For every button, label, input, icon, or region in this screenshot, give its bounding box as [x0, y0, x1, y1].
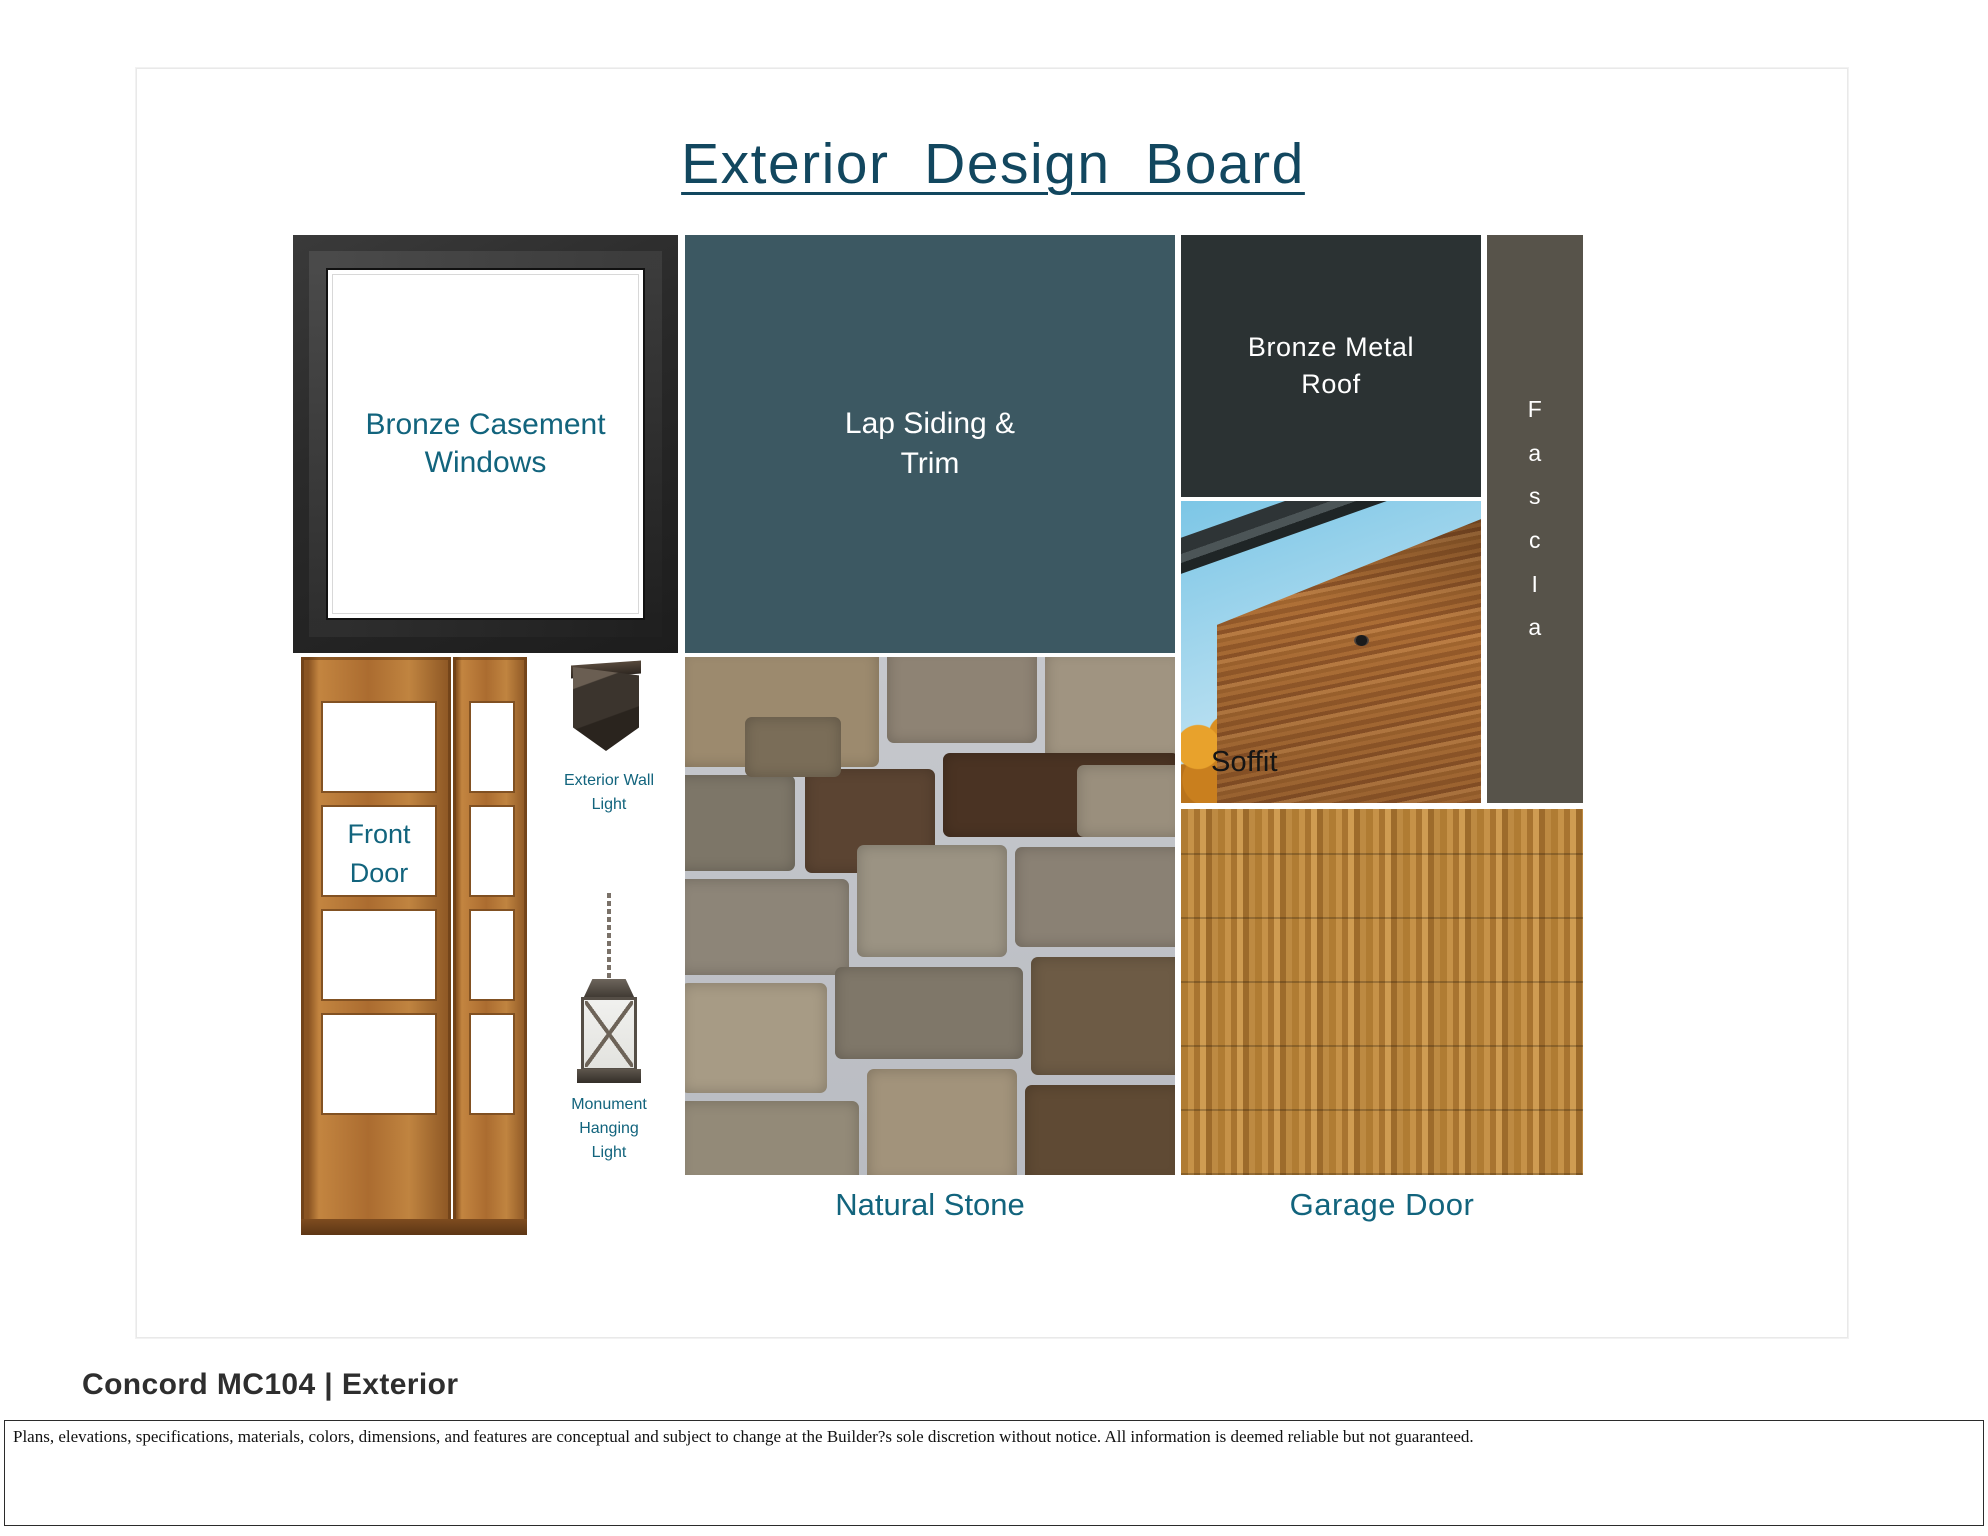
- panel-garage-door[interactable]: [1181, 809, 1583, 1175]
- door-pane: [323, 703, 435, 791]
- door-pane: [471, 703, 513, 791]
- hanging-chain: [607, 893, 611, 981]
- window-frame: Bronze Casement Windows: [309, 251, 662, 637]
- door-pane: [323, 1015, 435, 1113]
- panel-label-hanging-light: Monument Hanging Light: [541, 1093, 677, 1165]
- wall-sconce-fixture: [573, 667, 639, 751]
- door-pane: [323, 911, 435, 999]
- materials-board: Bronze Casement Windows Lap Siding & Tri…: [293, 235, 1713, 1295]
- panel-label-natural-stone: Natural Stone: [685, 1187, 1175, 1223]
- stone-texture: [685, 657, 1175, 1175]
- panel-label-siding: Lap Siding & Trim: [845, 404, 1015, 485]
- panel-label-soffit: Soffit: [1211, 746, 1278, 779]
- project-title: Concord MC104 | Exterior: [82, 1368, 458, 1402]
- panel-label-fascia: F a s c I a: [1528, 388, 1543, 650]
- panel-label-roof: Bronze Metal Roof: [1248, 329, 1414, 404]
- door-threshold: [301, 1219, 527, 1235]
- door-pane: [471, 807, 513, 895]
- lantern-cap: [583, 979, 635, 999]
- panel-label-windows: Bronze Casement Windows: [365, 406, 605, 483]
- window-glass: Bronze Casement Windows: [332, 274, 639, 614]
- page-title: Exterior Design Board: [137, 131, 1849, 197]
- lantern-frame: [585, 1001, 633, 1067]
- panel-monument-hanging-light[interactable]: Monument Hanging Light: [541, 893, 677, 1235]
- panel-exterior-wall-light[interactable]: Exterior Wall Light: [541, 657, 677, 887]
- door-pane: [471, 1015, 513, 1113]
- panel-label-wall-light: Exterior Wall Light: [541, 769, 677, 817]
- panel-lap-siding-trim[interactable]: Lap Siding & Trim: [685, 235, 1175, 653]
- panel-natural-stone[interactable]: [685, 657, 1175, 1175]
- panel-soffit[interactable]: Soffit: [1181, 501, 1481, 803]
- disclaimer-box: Plans, elevations, specifications, mater…: [4, 1420, 1984, 1526]
- door-pane: [471, 911, 513, 999]
- disclaimer-text: Plans, elevations, specifications, mater…: [13, 1427, 1474, 1447]
- panel-bronze-metal-roof[interactable]: Bronze Metal Roof: [1181, 235, 1481, 497]
- design-board-sheet: Exterior Design Board Bronze Casement Wi…: [136, 68, 1848, 1338]
- panel-fascia[interactable]: F a s c I a: [1487, 235, 1583, 803]
- lantern-base: [577, 1069, 641, 1083]
- panel-front-door[interactable]: Front Door: [293, 657, 535, 1235]
- recessed-light-icon: [1354, 635, 1369, 646]
- panel-label-garage-door: Garage Door: [1181, 1187, 1583, 1223]
- panel-label-front-door: Front Door: [317, 815, 441, 893]
- panel-bronze-casement-windows[interactable]: Bronze Casement Windows: [293, 235, 678, 653]
